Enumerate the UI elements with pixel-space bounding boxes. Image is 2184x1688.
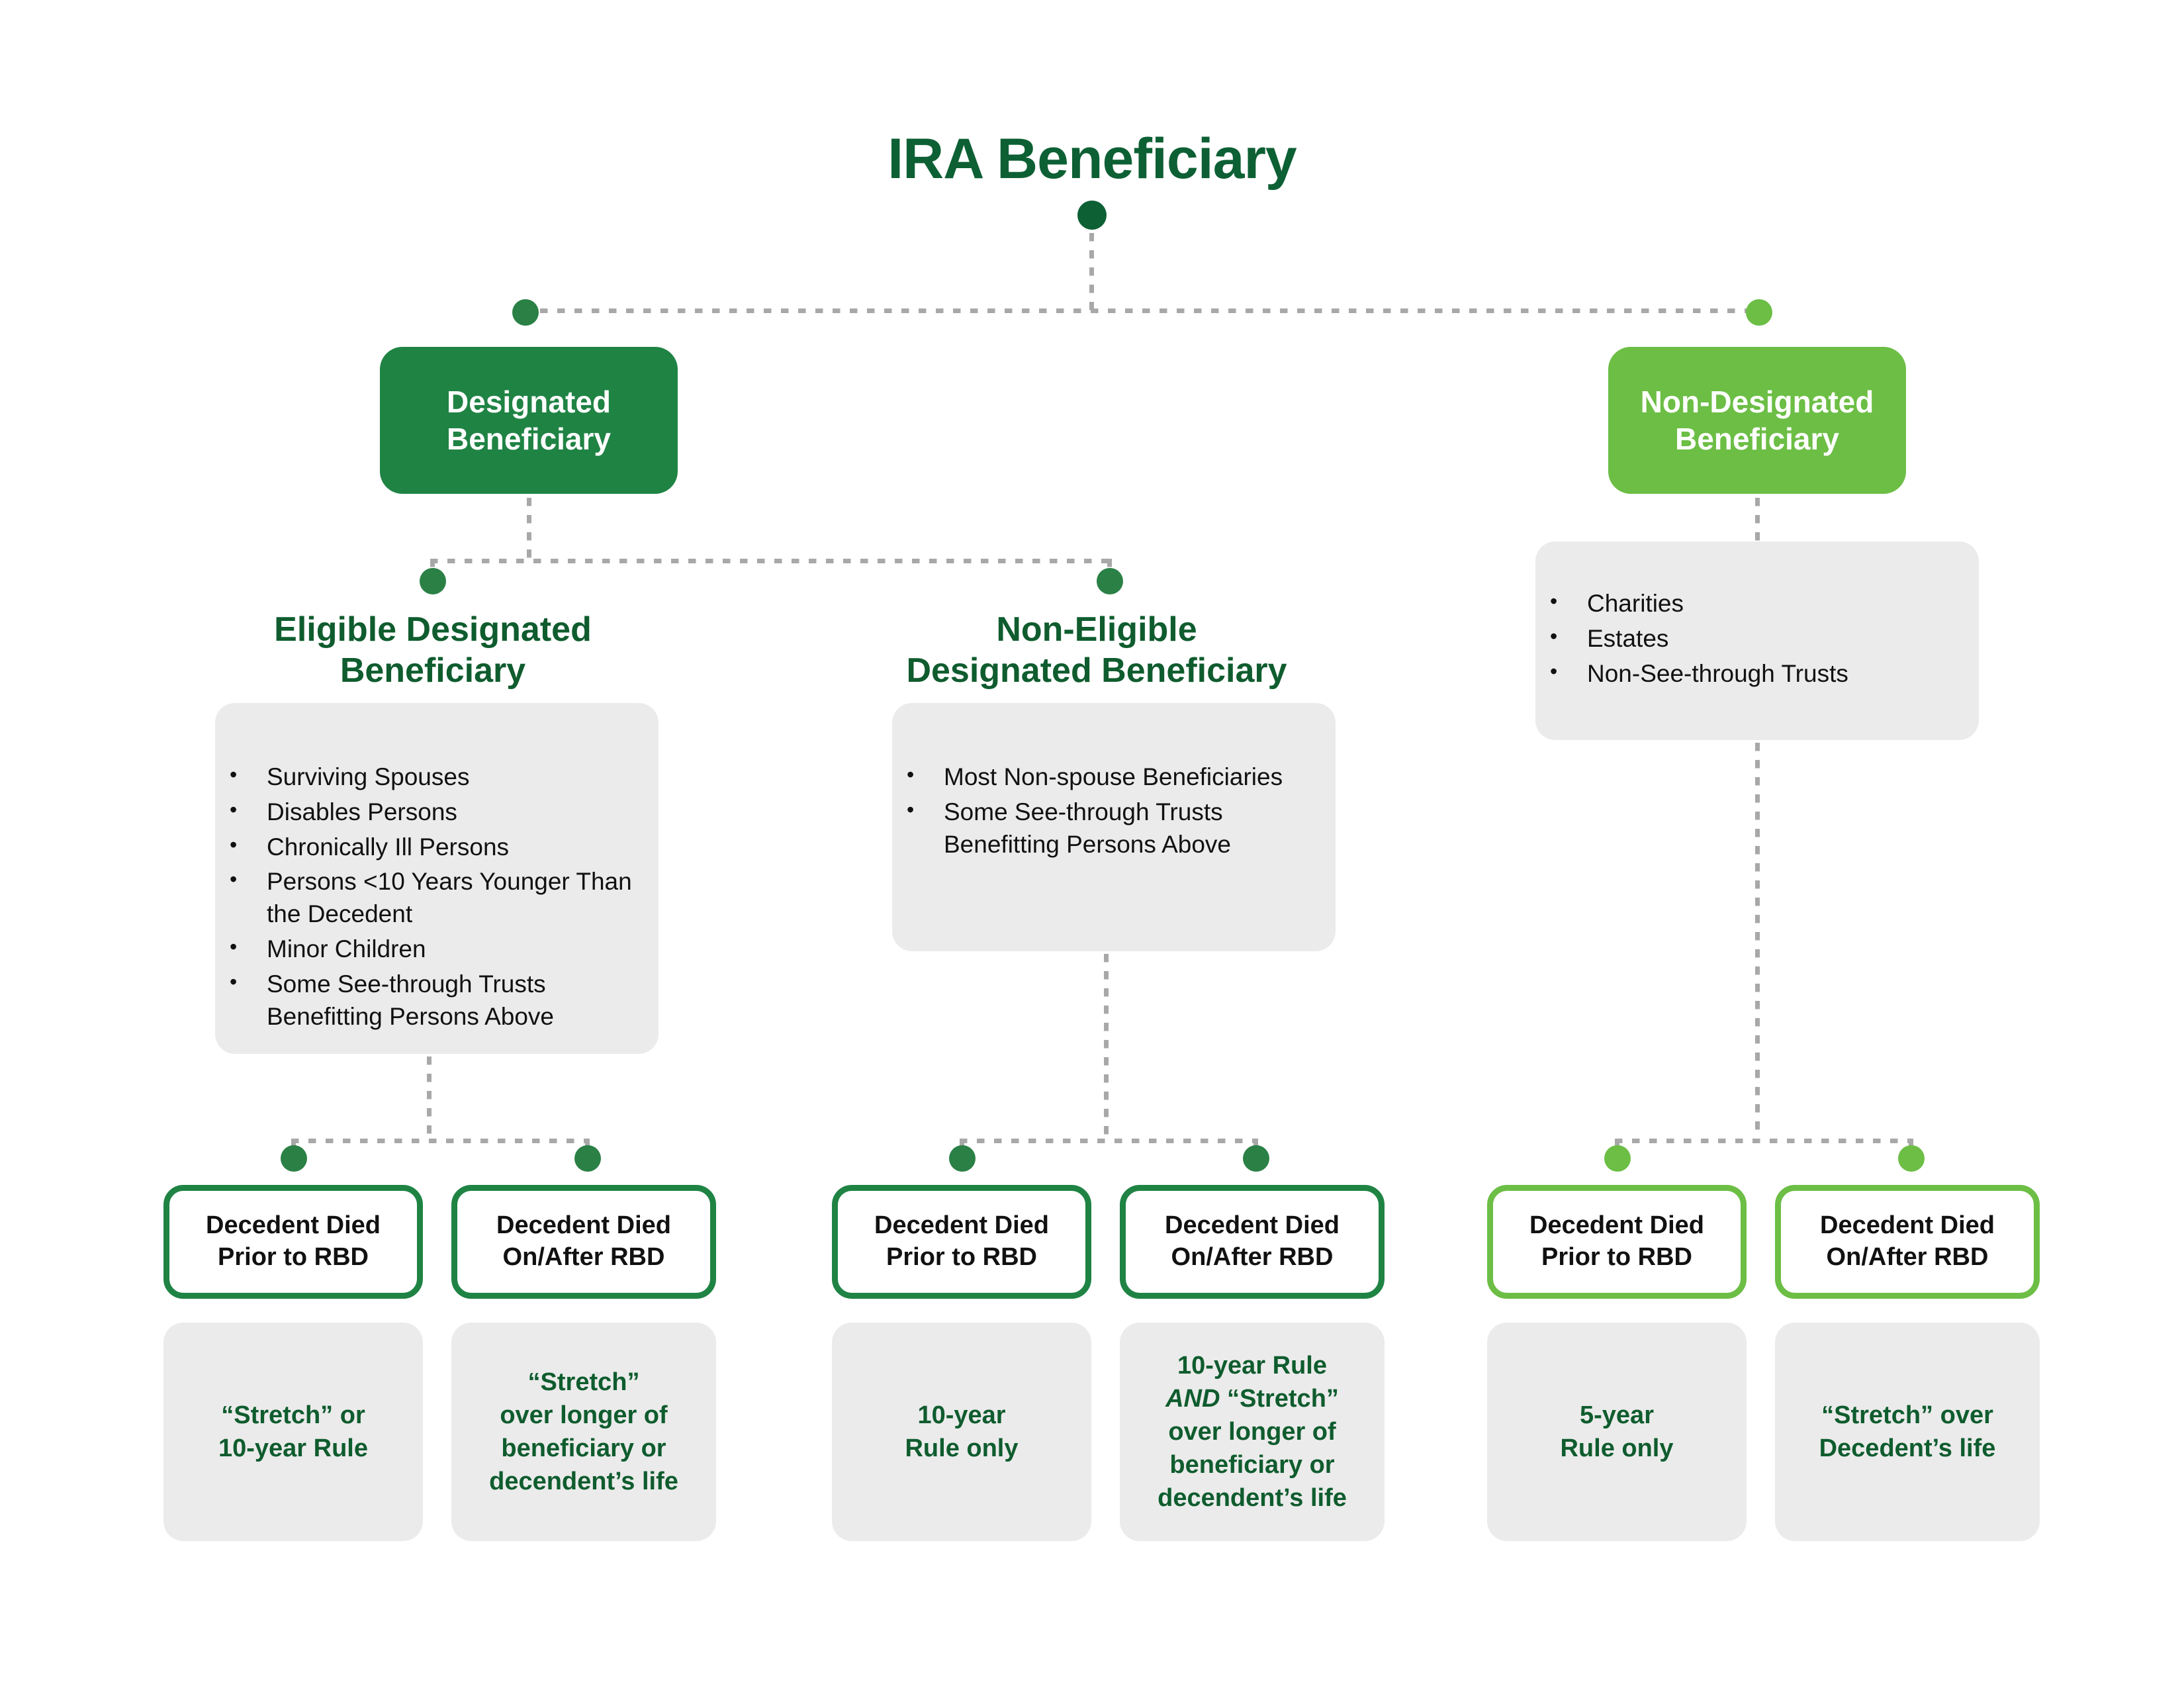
- outcome-line: beneficiary or: [501, 1434, 666, 1462]
- non-eligible-after-dot: [1243, 1145, 1269, 1172]
- node-designated-beneficiary[interactable]: Designated Beneficiary: [380, 347, 678, 494]
- rbd-after-line2: On/After RBD: [1827, 1243, 1989, 1271]
- eligible-outcome-after: “Stretch” over longer of beneficiary or …: [451, 1323, 716, 1541]
- connector-designated-to-eligible: [430, 559, 435, 568]
- non-designated-label-line2: Beneficiary: [1675, 422, 1839, 456]
- non-designated-beneficiary-dot: [1746, 299, 1772, 326]
- non-designated-prior-dot: [1604, 1145, 1631, 1172]
- outcome-line: “Stretch”: [528, 1368, 640, 1396]
- connector-non-designated-to-bullets: [1755, 498, 1760, 543]
- non-designated-label-line1: Non-Designated: [1641, 385, 1874, 419]
- rbd-after-line2: On/After RBD: [503, 1243, 665, 1271]
- outcome-line: 10-year Rule: [1177, 1352, 1327, 1380]
- list-item: Chronically Ill Persons: [215, 831, 659, 864]
- outcome-line: 5-year: [1580, 1401, 1654, 1429]
- rbd-prior-line1: Decedent Died: [1529, 1211, 1704, 1239]
- non-eligible-designated-dot: [1097, 568, 1123, 594]
- eligible-heading-line1: Eligible Designated: [274, 610, 592, 649]
- outcome-line: decendent’s life: [1158, 1484, 1347, 1512]
- connector-non-designated-vertical: [1755, 743, 1760, 1141]
- rbd-after-line1: Decedent Died: [1820, 1211, 1995, 1239]
- outcome-line: “Stretch” over: [1821, 1401, 1993, 1429]
- designated-beneficiary-dot: [512, 299, 539, 326]
- page-title-text: IRA Beneficiary: [887, 127, 1297, 191]
- eligible-after-dot: [574, 1145, 601, 1172]
- list-item: Some See-through Trusts Benefitting Pers…: [892, 796, 1336, 861]
- non-eligible-outcome-after: 10-year Rule AND “Stretch” over longer o…: [1120, 1323, 1385, 1541]
- non-eligible-bullet-list: Most Non-spouse Beneficiaries Some See-t…: [892, 761, 1336, 863]
- list-item: Persons <10 Years Younger Than the Deced…: [215, 866, 659, 931]
- connector-root-horizontal: [523, 308, 1760, 313]
- list-item: Minor Children: [215, 933, 659, 966]
- rbd-prior-line2: Prior to RBD: [218, 1243, 369, 1271]
- non-designated-after-dot: [1898, 1145, 1925, 1172]
- outcome-line: 10-year: [917, 1401, 1005, 1429]
- non-eligible-rbd-prior-box[interactable]: Decedent Died Prior to RBD: [832, 1185, 1091, 1299]
- connector-designated-to-non-eligible: [1107, 559, 1112, 568]
- page-title: IRA Beneficiary: [675, 129, 1509, 189]
- non-eligible-prior-dot: [949, 1145, 976, 1172]
- connector-eligible-vertical: [427, 1056, 432, 1141]
- designated-label-line2: Beneficiary: [447, 422, 611, 456]
- outcome-line: Rule only: [1560, 1434, 1673, 1462]
- outcome-line: beneficiary or: [1169, 1451, 1334, 1479]
- non-eligible-rbd-after-box[interactable]: Decedent Died On/After RBD: [1120, 1185, 1385, 1299]
- rbd-prior-line1: Decedent Died: [206, 1211, 381, 1239]
- outcome-line: Decedent’s life: [1819, 1434, 1996, 1462]
- list-item: Estates: [1535, 623, 1979, 655]
- non-designated-outcome-prior: 5-year Rule only: [1487, 1323, 1747, 1541]
- heading-eligible-designated-beneficiary: Eligible Designated Beneficiary: [201, 609, 664, 692]
- eligible-bullet-list: Surviving Spouses Disables Persons Chron…: [215, 761, 659, 1036]
- non-eligible-heading-line1: Non-Eligible: [996, 610, 1197, 649]
- list-item: Non-See-through Trusts: [1535, 658, 1979, 690]
- heading-non-eligible-designated-beneficiary: Non-Eligible Designated Beneficiary: [865, 609, 1328, 692]
- non-designated-rbd-prior-box[interactable]: Decedent Died Prior to RBD: [1487, 1185, 1747, 1299]
- connector-designated-vertical: [527, 498, 531, 561]
- rbd-prior-line1: Decedent Died: [874, 1211, 1049, 1239]
- node-non-designated-beneficiary[interactable]: Non-Designated Beneficiary: [1608, 347, 1906, 494]
- rbd-prior-line2: Prior to RBD: [1541, 1243, 1692, 1271]
- eligible-rbd-after-box[interactable]: Decedent Died On/After RBD: [451, 1185, 716, 1299]
- non-designated-outcome-after: “Stretch” over Decedent’s life: [1775, 1323, 2040, 1541]
- outcome-stretch: “Stretch”: [1227, 1385, 1339, 1413]
- connector-non-eligible-horizontal: [960, 1139, 1257, 1143]
- rbd-after-line1: Decedent Died: [1165, 1211, 1340, 1239]
- outcome-line: over longer of: [1168, 1418, 1336, 1446]
- outcome-line: Rule only: [905, 1434, 1018, 1462]
- eligible-rbd-prior-box[interactable]: Decedent Died Prior to RBD: [163, 1185, 423, 1299]
- outcome-line: over longer of: [500, 1401, 667, 1429]
- list-item: Disables Persons: [215, 796, 659, 829]
- ira-beneficiary-flowchart: IRA Beneficiary Designated Beneficiary N…: [0, 0, 2184, 1688]
- connector-eligible-horizontal: [291, 1139, 589, 1143]
- non-designated-rbd-after-box[interactable]: Decedent Died On/After RBD: [1775, 1185, 2040, 1299]
- outcome-and-emphasis: AND: [1165, 1385, 1220, 1413]
- rbd-after-line1: Decedent Died: [496, 1211, 671, 1239]
- eligible-heading-line2: Beneficiary: [340, 651, 525, 690]
- outcome-line: 10-year Rule: [218, 1434, 368, 1462]
- outcome-line: decendent’s life: [489, 1468, 678, 1495]
- root-node-dot: [1077, 201, 1107, 230]
- rbd-prior-line2: Prior to RBD: [886, 1243, 1037, 1271]
- connector-designated-horizontal: [430, 559, 1112, 563]
- connector-root-vertical: [1089, 233, 1094, 311]
- rbd-after-line2: On/After RBD: [1171, 1243, 1334, 1271]
- non-designated-bullet-list: Charities Estates Non-See-through Trusts: [1535, 588, 1979, 692]
- outcome-line: “Stretch” or: [221, 1401, 365, 1429]
- non-eligible-heading-line2: Designated Beneficiary: [906, 651, 1287, 690]
- eligible-prior-dot: [281, 1145, 307, 1172]
- connector-non-designated-horizontal: [1615, 1139, 1913, 1143]
- eligible-designated-dot: [420, 568, 446, 594]
- connector-non-eligible-vertical: [1104, 954, 1109, 1141]
- list-item: Most Non-spouse Beneficiaries: [892, 761, 1336, 794]
- list-item: Surviving Spouses: [215, 761, 659, 794]
- list-item: Charities: [1535, 588, 1979, 620]
- eligible-outcome-prior: “Stretch” or 10-year Rule: [163, 1323, 423, 1541]
- list-item: Some See-through Trusts Benefitting Pers…: [215, 968, 659, 1033]
- non-eligible-outcome-prior: 10-year Rule only: [832, 1323, 1091, 1541]
- designated-label-line1: Designated: [447, 385, 611, 419]
